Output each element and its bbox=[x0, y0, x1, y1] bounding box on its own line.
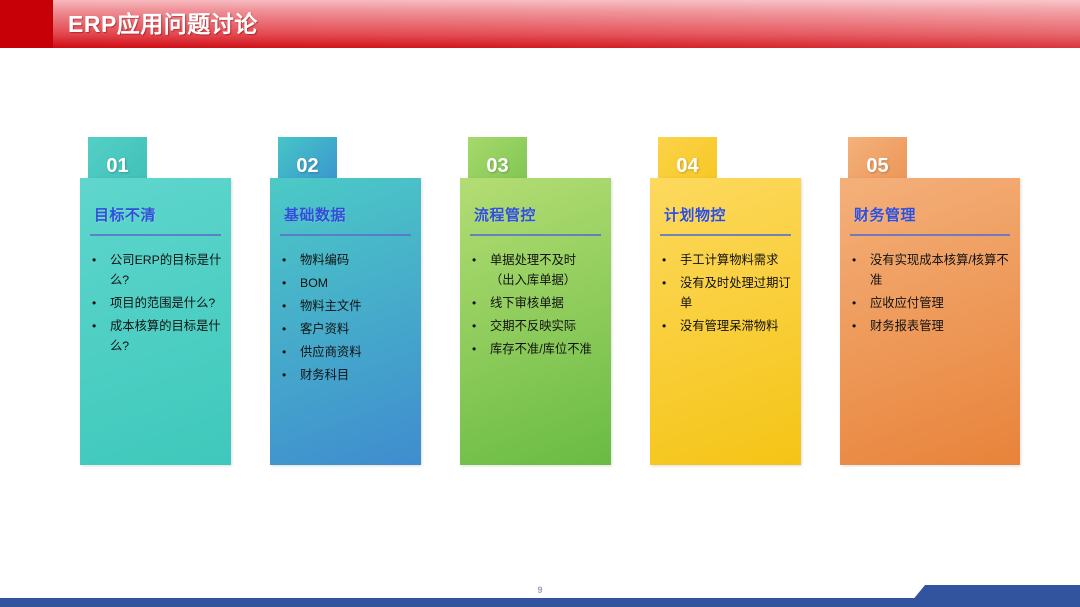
card-body: 计划物控 手工计算物料需求 没有及时处理过期订单 没有管理呆滞物料 bbox=[650, 178, 801, 465]
list-item: 财务科目 bbox=[280, 365, 413, 385]
list-item: 库存不准/库位不准 bbox=[470, 339, 603, 359]
card-02[interactable]: 02 基础数据 物料编码 BOM 物料主文件 客户资料 供应商资料 财务科目 bbox=[270, 137, 421, 465]
list-item: 公司ERP的目标是什么? bbox=[90, 250, 223, 290]
list-item: 成本核算的目标是什么? bbox=[90, 316, 223, 356]
card-bullet-list: 公司ERP的目标是什么? 项目的范围是什么? 成本核算的目标是什么? bbox=[80, 236, 231, 356]
list-item: BOM bbox=[280, 273, 413, 293]
list-item: 应收应付管理 bbox=[850, 293, 1012, 313]
card-title: 流程管控 bbox=[460, 178, 611, 225]
page-number: 9 bbox=[0, 585, 1080, 595]
list-item: 没有实现成本核算/核算不准 bbox=[850, 250, 1012, 290]
card-title: 财务管理 bbox=[840, 178, 1020, 225]
page-title: ERP应用问题讨论 bbox=[68, 0, 258, 48]
card-divider bbox=[470, 234, 601, 236]
list-item: 没有管理呆滞物料 bbox=[660, 316, 793, 336]
list-item: 线下审核单据 bbox=[470, 293, 603, 313]
card-01[interactable]: 01 目标不清 公司ERP的目标是什么? 项目的范围是什么? 成本核算的目标是什… bbox=[80, 137, 231, 465]
list-item: 客户资料 bbox=[280, 319, 413, 339]
list-item: 项目的范围是什么? bbox=[90, 293, 223, 313]
card-bullet-list: 单据处理不及时 （出入库单据） 线下审核单据 交期不反映实际 库存不准/库位不准 bbox=[460, 236, 611, 359]
card-title: 目标不清 bbox=[80, 178, 231, 225]
card-title: 计划物控 bbox=[650, 178, 801, 225]
card-body: 财务管理 没有实现成本核算/核算不准 应收应付管理 财务报表管理 bbox=[840, 178, 1020, 465]
list-item: 单据处理不及时 bbox=[470, 250, 603, 270]
list-item: 财务报表管理 bbox=[850, 316, 1012, 336]
list-item: 物料主文件 bbox=[280, 296, 413, 316]
card-03[interactable]: 03 流程管控 单据处理不及时 （出入库单据） 线下审核单据 交期不反映实际 库… bbox=[460, 137, 611, 465]
card-divider bbox=[660, 234, 791, 236]
card-bullet-list: 没有实现成本核算/核算不准 应收应付管理 财务报表管理 bbox=[840, 236, 1020, 336]
card-04[interactable]: 04 计划物控 手工计算物料需求 没有及时处理过期订单 没有管理呆滞物料 bbox=[650, 137, 801, 465]
card-bullet-list: 物料编码 BOM 物料主文件 客户资料 供应商资料 财务科目 bbox=[270, 236, 421, 385]
list-item: 物料编码 bbox=[280, 250, 413, 270]
list-item: 没有及时处理过期订单 bbox=[660, 273, 793, 313]
list-item: 交期不反映实际 bbox=[470, 316, 603, 336]
list-item-continuation: （出入库单据） bbox=[470, 270, 603, 290]
header-accent-block bbox=[0, 0, 53, 48]
card-05[interactable]: 05 财务管理 没有实现成本核算/核算不准 应收应付管理 财务报表管理 bbox=[840, 137, 1020, 465]
list-item: 供应商资料 bbox=[280, 342, 413, 362]
card-body: 基础数据 物料编码 BOM 物料主文件 客户资料 供应商资料 财务科目 bbox=[270, 178, 421, 465]
card-body: 流程管控 单据处理不及时 （出入库单据） 线下审核单据 交期不反映实际 库存不准… bbox=[460, 178, 611, 465]
card-divider bbox=[280, 234, 411, 236]
card-bullet-list: 手工计算物料需求 没有及时处理过期订单 没有管理呆滞物料 bbox=[650, 236, 801, 336]
card-divider bbox=[850, 234, 1010, 236]
card-body: 目标不清 公司ERP的目标是什么? 项目的范围是什么? 成本核算的目标是什么? bbox=[80, 178, 231, 465]
slide-header: ERP应用问题讨论 bbox=[0, 0, 1080, 48]
list-item: 手工计算物料需求 bbox=[660, 250, 793, 270]
card-title: 基础数据 bbox=[270, 178, 421, 225]
card-row: 01 目标不清 公司ERP的目标是什么? 项目的范围是什么? 成本核算的目标是什… bbox=[0, 137, 1080, 467]
card-divider bbox=[90, 234, 221, 236]
